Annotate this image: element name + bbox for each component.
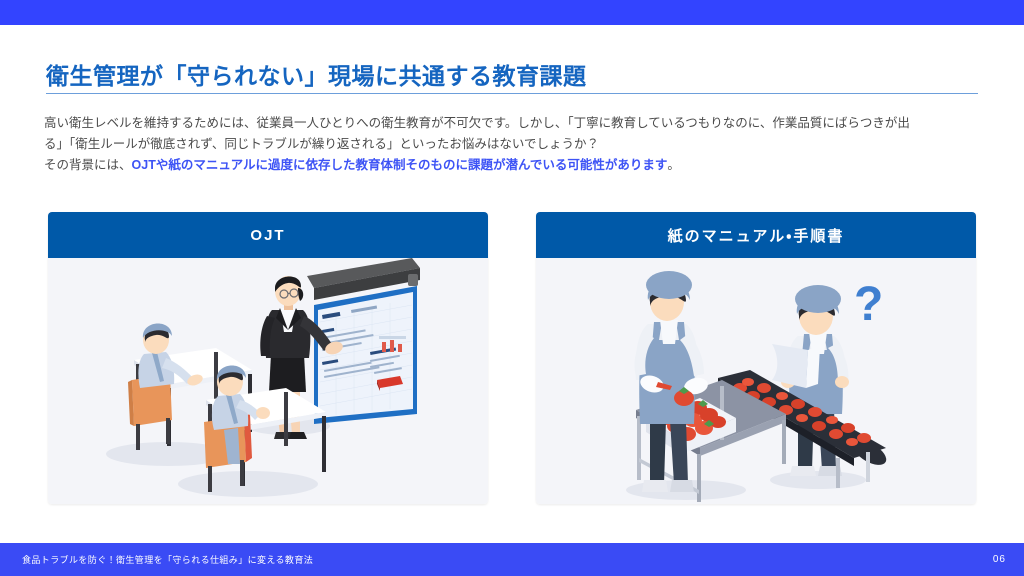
top-accent-bar [0,0,1024,25]
footer-bar: 食品トラブルを防ぐ！衛生管理を「守られる仕組み」に変える教育法 06 [0,543,1024,576]
worker-hand [835,376,849,388]
question-mark-icon: ? [854,278,883,331]
instructor-shoe [289,432,307,439]
worker-collar [660,320,678,344]
card-paper-manual-title: 紙のマニュアル・手順書 [668,225,845,246]
lead-line-2: る」「衛生ルールが徹底されず、同じトラブルが繰り返される」といったお悩みはないで… [44,137,599,151]
worker-shoe [642,480,668,492]
conveyor-leg [836,458,840,488]
chair-leg [136,424,140,450]
chair-leg [166,418,170,444]
footer-page-number: 06 [993,554,1006,565]
shadow-ellipse [770,471,866,489]
worker-leg [650,420,666,484]
question-mark-glyph: ? [854,278,883,331]
classroom-training-illustration [48,258,488,504]
chair-leg [208,466,212,492]
desk-leg [284,392,288,446]
lead-line-1: 高い衛生レベルを維持するためには、従業員一人ひとりへの衛生教育が不可欠です。しか… [44,116,910,130]
card-ojt: OJT [48,212,488,504]
chair-leg [240,460,244,486]
card-ojt-header: OJT [48,212,488,258]
card-ojt-title: OJT [250,227,285,244]
worker-leg [670,420,688,484]
roller-end-cap [408,274,418,286]
lead-line-3-prefix: その背景には、 [44,158,132,172]
worker-shoe [790,466,816,476]
lead-line-3-highlight: OJTや紙のマニュアルに過度に依存した教育体制そのものに課題が潜んでいる可能性が… [132,158,668,172]
card-ojt-body [48,258,488,504]
lead-paragraph: 高い衛生レベルを維持するためには、従業員一人ひとりへの衛生教育が不可欠です。しか… [44,113,984,176]
footer-title: 食品トラブルを防ぐ！衛生管理を「守られる仕組み」に変える教育法 [22,553,313,566]
paper-manual-page [806,346,820,388]
hair-net-dome [795,285,841,313]
title-divider [46,93,978,94]
card-paper-manual: 紙のマニュアル・手順書 [536,212,976,504]
paper-manual [772,344,808,388]
shadow-ellipse [178,471,318,497]
card-paper-manual-header: 紙のマニュアル・手順書 [536,212,976,258]
hair-net-dome [646,271,692,299]
worker-shoe [670,480,694,492]
table-leg [637,416,641,480]
food-factory-manual-illustration: ? [536,258,976,504]
trainee-hand [256,407,270,419]
table-leg [782,420,786,464]
instructor-skirt [269,354,306,392]
page-title: 衛生管理が「守られない」現場に共通する教育課題 [46,57,587,91]
card-group: OJT [48,212,976,504]
table-leg [697,454,701,502]
card-paper-manual-body: ? [536,258,976,504]
conveyor-leg [866,452,870,482]
desk-leg [322,416,326,472]
lead-line-3-suffix: 。 [667,158,680,172]
